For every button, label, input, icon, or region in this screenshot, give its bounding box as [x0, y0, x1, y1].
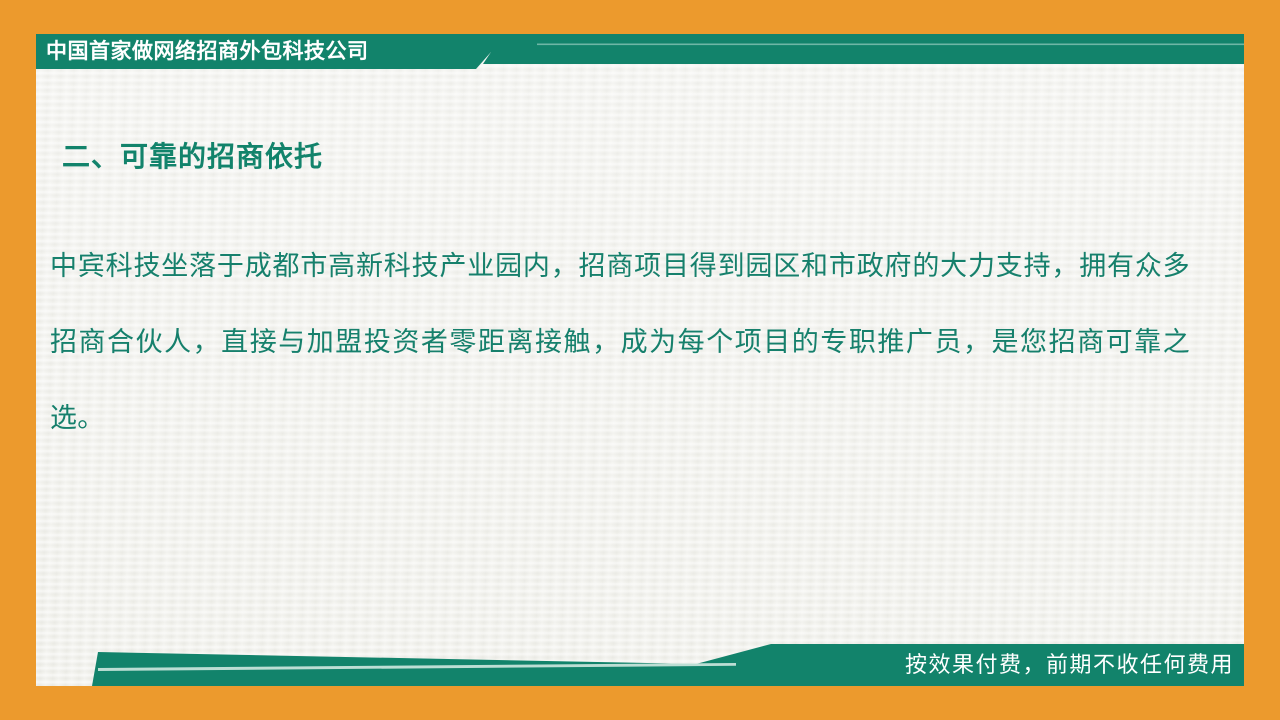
page-title: 二、可靠的招商依托 — [62, 135, 323, 175]
slide-footer-banner: 按效果付费，前期不收任何费用 — [36, 630, 1244, 686]
body-paragraph: 中宾科技坐落于成都市高新科技产业园内，招商项目得到园区和市政府的大力支持，拥有众… — [50, 228, 1190, 456]
header-title: 中国首家做网络招商外包科技公司 — [46, 34, 369, 69]
presentation-slide: 中国首家做网络招商外包科技公司 二、可靠的招商依托 中宾科技坐落于成都市高新科技… — [0, 0, 1280, 720]
footer-tagline: 按效果付费，前期不收任何费用 — [905, 647, 1234, 679]
slide-header-banner: 中国首家做网络招商外包科技公司 — [36, 34, 1244, 69]
